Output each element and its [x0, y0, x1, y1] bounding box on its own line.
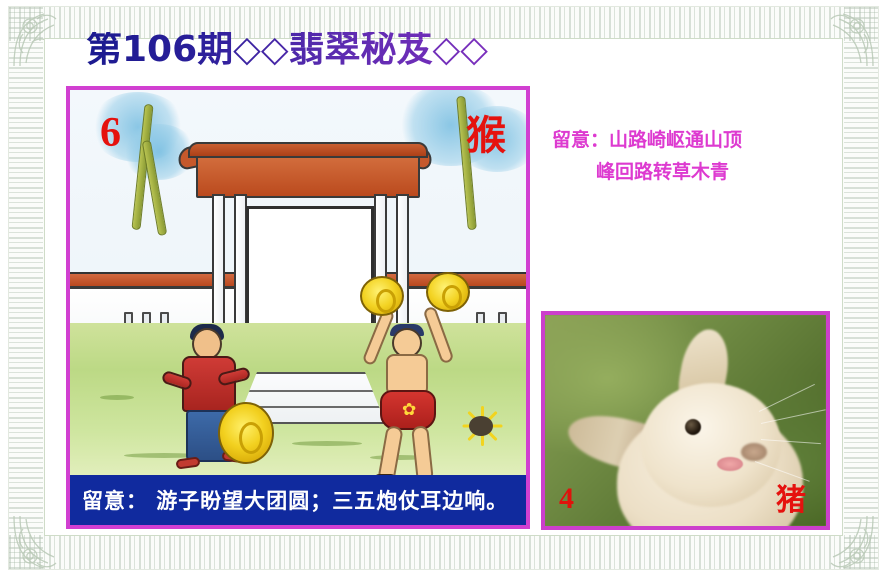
main-illustration-card: ✿ 6 猴 留意： 游子盼望大团圆；三五炮仗耳边: [66, 86, 530, 529]
rabbit-photo-card: 4 猪: [541, 311, 830, 530]
cymbal-right: [426, 272, 470, 312]
child-leg-left: [377, 425, 403, 479]
figure-man-with-gong: [166, 328, 278, 476]
gate-ridge: [188, 142, 428, 158]
note-block: 留意：山路崎岖通山顶 峰回路转草木青: [552, 124, 842, 188]
main-zodiac: 猴: [466, 116, 506, 156]
gong: [218, 402, 274, 464]
child-leg-right: [411, 425, 434, 479]
man-shoe-left: [175, 456, 200, 469]
caption-bar: 留意： 游子盼望大团圆；三五炮仗耳边响。: [70, 475, 526, 525]
figure-child-with-cymbals: ✿: [352, 286, 472, 476]
burst-core: [469, 416, 493, 436]
note-line-2: 峰回路转草木青: [552, 156, 842, 188]
poster-page: 第106期◇◇翡翠秘芨◇◇: [0, 0, 887, 582]
photo-number: 4: [559, 484, 574, 514]
star-icon: ✿: [402, 402, 416, 419]
page-title: 第106期◇◇翡翠秘芨◇◇: [86, 32, 488, 68]
rabbit-eye: [685, 419, 701, 435]
illustration-scene: ✿ 6 猴: [70, 90, 526, 479]
rabbit-tongue: [717, 457, 743, 471]
caption-text: 留意： 游子盼望大团圆；三五炮仗耳边响。: [82, 485, 508, 515]
firecracker-burst-icon: [460, 409, 502, 443]
photo-zodiac: 猪: [776, 486, 806, 516]
rabbit-nose: [741, 443, 767, 461]
cymbal-left: [360, 276, 404, 316]
main-number: 6: [100, 112, 121, 154]
child-arm-right: [422, 306, 454, 365]
gate-roof: [196, 152, 420, 198]
note-line-1: 留意：山路崎岖通山顶: [552, 124, 842, 156]
